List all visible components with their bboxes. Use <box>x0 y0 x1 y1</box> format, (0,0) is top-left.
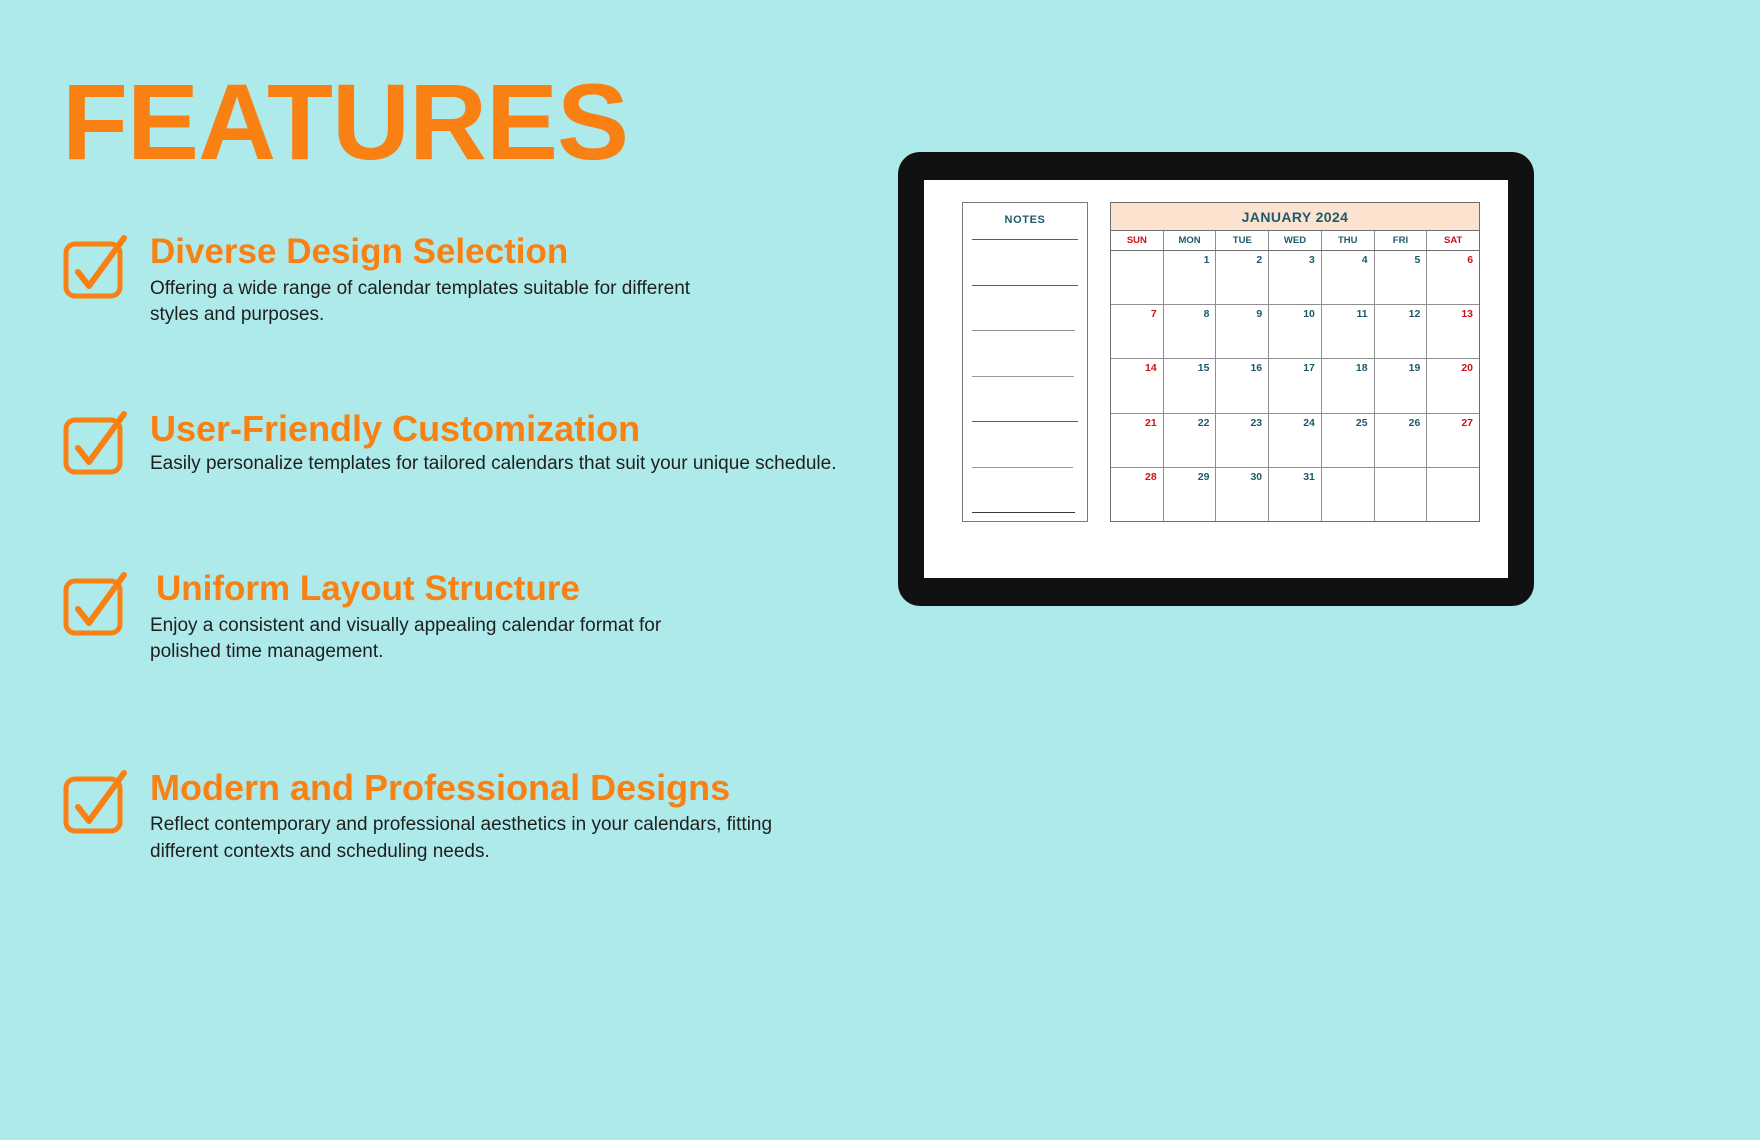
calendar-day-cell[interactable]: 2 <box>1216 251 1269 304</box>
feature-heading: Modern and Professional Designs <box>150 767 772 808</box>
calendar-day-cell[interactable]: 29 <box>1164 468 1217 521</box>
calendar-day-cell[interactable]: 11 <box>1322 305 1375 358</box>
feature-heading: User-Friendly Customization <box>150 408 837 449</box>
notes-panel: NOTES <box>962 202 1088 522</box>
feature-description: Offering a wide range of calendar templa… <box>150 276 690 328</box>
calendar-day-cell[interactable]: 22 <box>1164 414 1217 467</box>
calendar-day-header: WED <box>1269 231 1322 250</box>
calendar-day-cell[interactable]: 26 <box>1375 414 1428 467</box>
calendar-day-cell[interactable]: 27 <box>1427 414 1479 467</box>
calendar-day-cell[interactable]: 23 <box>1216 414 1269 467</box>
calendar-day-cell[interactable]: 24 <box>1269 414 1322 467</box>
note-line[interactable] <box>972 421 1078 422</box>
calendar-day-cell[interactable]: 3 <box>1269 251 1322 304</box>
calendar-day-cell[interactable] <box>1427 468 1479 521</box>
calendar-document: NOTES JANUARY 2024 SUN MON TUE W <box>962 202 1480 556</box>
feature-text: Modern and Professional Designs Reflect … <box>150 767 772 865</box>
calendar-day-header: MON <box>1164 231 1217 250</box>
calendar-day-cell[interactable]: 30 <box>1216 468 1269 521</box>
calendar-day-cell[interactable] <box>1322 468 1375 521</box>
note-line[interactable] <box>972 330 1075 331</box>
calendar-day-cell[interactable]: 12 <box>1375 305 1428 358</box>
calendar-day-cell[interactable]: 1 <box>1164 251 1217 304</box>
checkbox-checked-icon <box>62 236 124 298</box>
calendar-body: 1 2 3 4 5 6 7 8 9 10 11 12 13 <box>1111 251 1479 521</box>
feature-item: User-Friendly Customization Easily perso… <box>62 408 837 478</box>
calendar-day-cell[interactable]: 14 <box>1111 359 1164 412</box>
tablet-screen: NOTES JANUARY 2024 SUN MON TUE W <box>924 180 1508 578</box>
calendar-day-cell[interactable]: 6 <box>1427 251 1479 304</box>
calendar-day-cell[interactable]: 18 <box>1322 359 1375 412</box>
feature-text: Uniform Layout Structure Enjoy a consist… <box>150 569 661 666</box>
calendar-day-cell[interactable]: 16 <box>1216 359 1269 412</box>
notes-title: NOTES <box>972 214 1078 226</box>
calendar-day-cell[interactable]: 19 <box>1375 359 1428 412</box>
calendar-day-header: TUE <box>1216 231 1269 250</box>
feature-description: Reflect contemporary and professional ae… <box>150 812 772 864</box>
calendar-week-row: 14 15 16 17 18 19 20 <box>1111 359 1479 413</box>
calendar-day-cell[interactable]: 17 <box>1269 359 1322 412</box>
calendar-day-cell[interactable]: 25 <box>1322 414 1375 467</box>
calendar-week-row: 1 2 3 4 5 6 <box>1111 251 1479 305</box>
calendar-week-row: 28 29 30 31 <box>1111 468 1479 521</box>
feature-text: User-Friendly Customization Easily perso… <box>150 408 837 478</box>
calendar-week-row: 7 8 9 10 11 12 13 <box>1111 305 1479 359</box>
note-line[interactable] <box>972 285 1078 286</box>
feature-item: Modern and Professional Designs Reflect … <box>62 767 772 865</box>
note-line[interactable] <box>972 467 1073 468</box>
calendar-day-cell[interactable]: 13 <box>1427 305 1479 358</box>
calendar-day-header: FRI <box>1375 231 1428 250</box>
calendar-day-cell[interactable]: 7 <box>1111 305 1164 358</box>
calendar-day-cell[interactable]: 28 <box>1111 468 1164 521</box>
calendar-day-cell[interactable]: 9 <box>1216 305 1269 358</box>
note-line[interactable] <box>972 512 1075 513</box>
calendar-day-cell[interactable]: 10 <box>1269 305 1322 358</box>
feature-item: Uniform Layout Structure Enjoy a consist… <box>62 569 661 666</box>
calendar-day-cell[interactable]: 5 <box>1375 251 1428 304</box>
calendar-day-header: SUN <box>1111 231 1164 250</box>
calendar-day-cell[interactable]: 31 <box>1269 468 1322 521</box>
calendar-day-cell[interactable]: 4 <box>1322 251 1375 304</box>
feature-heading: Uniform Layout Structure <box>150 569 661 609</box>
feature-heading: Diverse Design Selection <box>150 232 690 272</box>
feature-text: Diverse Design Selection Offering a wide… <box>150 232 690 329</box>
calendar-day-cell[interactable] <box>1111 251 1164 304</box>
feature-description: Easily personalize templates for tailore… <box>150 451 837 477</box>
calendar-day-header: THU <box>1322 231 1375 250</box>
calendar-day-header-row: SUN MON TUE WED THU FRI SAT <box>1111 231 1479 251</box>
calendar: JANUARY 2024 SUN MON TUE WED THU FRI SAT… <box>1110 202 1480 522</box>
calendar-title: JANUARY 2024 <box>1111 203 1479 231</box>
calendar-day-cell[interactable]: 8 <box>1164 305 1217 358</box>
checkbox-checked-icon <box>62 771 124 833</box>
feature-item: Diverse Design Selection Offering a wide… <box>62 232 690 329</box>
calendar-day-cell[interactable]: 20 <box>1427 359 1479 412</box>
checkbox-checked-icon <box>62 412 124 474</box>
calendar-week-row: 21 22 23 24 25 26 27 <box>1111 414 1479 468</box>
note-line[interactable] <box>972 376 1074 377</box>
feature-description: Enjoy a consistent and visually appealin… <box>150 613 661 665</box>
calendar-day-cell[interactable]: 15 <box>1164 359 1217 412</box>
page-title: FEATURES <box>62 68 628 176</box>
checkbox-checked-icon <box>62 573 124 635</box>
calendar-day-cell[interactable] <box>1375 468 1428 521</box>
calendar-day-cell[interactable]: 21 <box>1111 414 1164 467</box>
note-line[interactable] <box>972 239 1078 240</box>
notes-lines <box>972 239 1078 513</box>
tablet-mockup: NOTES JANUARY 2024 SUN MON TUE W <box>898 152 1534 606</box>
calendar-day-header: SAT <box>1427 231 1479 250</box>
